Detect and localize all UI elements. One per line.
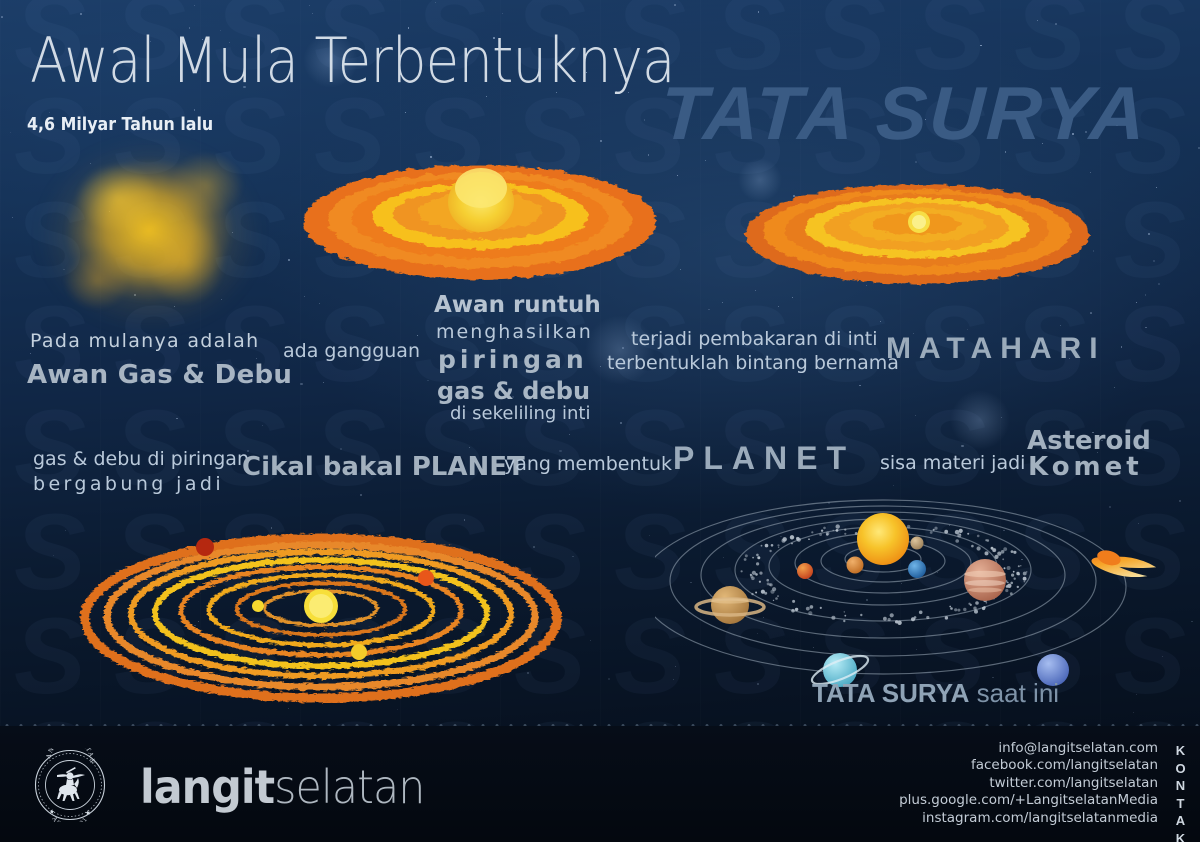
asteroid	[761, 545, 763, 547]
asteroid	[844, 615, 846, 617]
asteroid	[955, 539, 959, 543]
asteroid	[1023, 577, 1027, 581]
asteroid	[819, 533, 822, 536]
kontak-vertical-label: KONTAK	[1170, 742, 1192, 842]
star	[674, 4, 676, 6]
asteroid	[836, 524, 840, 528]
asteroid	[1011, 550, 1014, 553]
star	[708, 309, 710, 311]
asteroid	[770, 590, 774, 594]
asteroid	[982, 607, 985, 610]
star	[859, 385, 860, 386]
asteroid	[778, 547, 779, 548]
star	[80, 13, 82, 15]
star	[961, 445, 963, 447]
kontak-letter: K	[1170, 830, 1192, 842]
asteroid	[771, 544, 774, 547]
asteroid	[761, 590, 765, 594]
asteroid	[808, 538, 810, 540]
nebula-glow	[585, 315, 655, 385]
asteroid	[1005, 589, 1008, 592]
asteroid	[1016, 572, 1019, 575]
kontak-letter: N	[1170, 777, 1192, 795]
asteroid	[1024, 581, 1026, 583]
watermark-letter: S	[1100, 190, 1200, 294]
asteroid	[741, 570, 743, 572]
asteroid	[957, 533, 961, 537]
asteroid	[1018, 565, 1020, 567]
star	[427, 380, 429, 382]
star	[915, 415, 916, 416]
contact-list: info@langitselatan.com facebook.com/lang…	[899, 740, 1158, 827]
star	[1037, 20, 1038, 21]
asteroid	[914, 616, 917, 619]
asteroid	[744, 558, 747, 561]
star	[323, 382, 324, 383]
star	[680, 269, 681, 270]
asteroid	[790, 535, 794, 539]
label-matahari: MATAHARI	[886, 332, 1106, 366]
asteroid	[843, 620, 845, 622]
asteroid	[974, 610, 978, 614]
watermark-letter: S	[300, 398, 400, 502]
asteroid	[977, 546, 981, 550]
asteroid	[752, 557, 754, 559]
asteroid	[954, 608, 957, 611]
asteroid	[930, 531, 933, 534]
star	[10, 132, 11, 133]
asteroid	[926, 616, 929, 619]
star	[300, 383, 302, 385]
asteroid	[1007, 582, 1009, 584]
asteroid	[1013, 571, 1015, 573]
star	[778, 306, 780, 308]
asteroid	[890, 613, 894, 617]
asteroid	[959, 529, 963, 533]
asteroid	[1004, 567, 1006, 569]
asteroid	[823, 527, 826, 530]
star	[644, 119, 645, 120]
star	[1121, 346, 1122, 347]
asteroid	[1020, 565, 1021, 566]
asteroid	[755, 573, 758, 576]
watermark-letter: S	[1100, 294, 1200, 398]
asteroid	[1007, 566, 1011, 570]
brand-wordmark: langitselatan	[140, 760, 424, 814]
star	[360, 494, 362, 496]
asteroid	[773, 600, 774, 601]
star	[1060, 325, 1061, 326]
asteroid	[949, 606, 951, 608]
kontak-letter: A	[1170, 812, 1192, 830]
star	[590, 640, 591, 641]
caption-step4-line1: terjadi pembakaran di inti	[631, 328, 878, 350]
asteroid	[971, 545, 974, 548]
star	[1133, 712, 1134, 713]
star-ignition-disk-illustration	[742, 172, 1092, 294]
star	[600, 366, 601, 367]
star	[620, 422, 622, 424]
asteroid	[777, 595, 779, 597]
svg-text:LANGITSELATAN: LANGITSELATAN	[33, 748, 95, 764]
caption-step4-line2: terbentuklah bintang bernama	[607, 352, 899, 374]
star	[288, 708, 289, 709]
contact-facebook[interactable]: facebook.com/langitselatan	[899, 757, 1158, 774]
asteroid	[1014, 578, 1016, 580]
asteroid	[808, 611, 812, 615]
asteroid	[888, 618, 891, 621]
asteroid	[844, 533, 846, 535]
asteroid	[1003, 547, 1007, 551]
caption-step5-line1: gas & debu di piringan	[33, 448, 249, 470]
star	[915, 161, 917, 163]
asteroid	[766, 579, 769, 582]
star	[1093, 250, 1094, 251]
star	[1145, 327, 1147, 329]
caption-step3-line5: di sekeliling inti	[450, 403, 590, 424]
star	[312, 13, 314, 15]
asteroid	[844, 529, 846, 531]
asteroid	[791, 609, 795, 613]
asteroid	[756, 554, 759, 557]
asteroid	[919, 611, 923, 615]
asteroid	[883, 617, 887, 621]
planetesimal-disk-illustration	[78, 518, 568, 704]
asteroid	[770, 583, 773, 586]
caption-step3-line3: piringan	[438, 345, 588, 374]
star	[1090, 312, 1092, 314]
asteroid	[985, 551, 989, 555]
asteroid	[967, 533, 969, 535]
caption-step1-line2: Awan Gas & Debu	[27, 360, 292, 390]
label-tata-surya-saat-ini: TATA SURYA saat ini	[812, 678, 1059, 709]
asteroid	[997, 552, 1001, 556]
caption-step3-line4: gas & debu	[437, 377, 590, 405]
asteroid	[973, 607, 976, 610]
asteroid	[795, 608, 798, 611]
star	[608, 678, 610, 680]
caption-step3-line2: menghasilkan	[436, 321, 593, 343]
asteroid	[944, 530, 948, 534]
star	[1055, 23, 1056, 24]
asteroid	[950, 607, 953, 610]
star	[417, 335, 418, 336]
asteroid	[759, 581, 761, 583]
star	[340, 448, 341, 449]
star	[53, 555, 54, 556]
star	[30, 353, 31, 354]
asteroid	[831, 616, 835, 620]
star	[1153, 260, 1155, 262]
asteroid	[796, 537, 799, 540]
asteroid	[945, 616, 948, 619]
caption-yang-membentuk: yang membentuk	[504, 453, 672, 475]
asteroid	[907, 525, 910, 528]
asteroid	[755, 592, 757, 594]
asteroid	[977, 535, 980, 538]
asteroid	[769, 550, 771, 552]
asteroid	[957, 609, 960, 612]
asteroid	[933, 529, 935, 531]
asteroid	[987, 539, 990, 542]
asteroid	[1002, 558, 1004, 560]
contact-instagram[interactable]: instagram.com/langitselatanmedia	[899, 810, 1158, 827]
asteroid	[777, 544, 779, 546]
asteroid	[1010, 582, 1013, 585]
asteroid	[791, 543, 793, 545]
kontak-letter: O	[1170, 760, 1192, 778]
star	[262, 425, 263, 426]
star	[1156, 187, 1157, 188]
star	[649, 535, 650, 536]
asteroid	[820, 607, 822, 609]
star	[1, 16, 3, 18]
asteroid	[934, 527, 937, 530]
label-saat-ini: saat ini	[969, 678, 1059, 708]
caption-step1-line1: Pada mulanya adalah	[30, 330, 259, 352]
kontak-letter: T	[1170, 795, 1192, 813]
asteroid	[1001, 550, 1005, 554]
asteroid	[833, 530, 834, 531]
star	[435, 2, 436, 3]
star	[469, 447, 470, 448]
asteroid	[860, 614, 862, 616]
star	[980, 45, 982, 47]
star	[65, 530, 67, 532]
asteroid	[756, 562, 759, 565]
asteroid	[821, 530, 823, 532]
label-tata-surya-bold: TATA SURYA	[812, 678, 969, 708]
footer-divider	[0, 724, 1200, 726]
star	[758, 11, 759, 12]
star	[1001, 417, 1002, 418]
caption-step2: ada gangguan	[283, 340, 420, 362]
contact-twitter[interactable]: twitter.com/langitselatan	[899, 775, 1158, 792]
star	[1148, 233, 1150, 235]
watermark-letter: S	[900, 398, 1000, 502]
star	[893, 485, 895, 487]
asteroid	[844, 611, 845, 612]
asteroid	[759, 572, 762, 575]
star	[967, 329, 968, 330]
asteroid	[806, 607, 810, 611]
caption-step3-line1: Awan runtuh	[434, 292, 601, 318]
brand-selatan: selatan	[274, 760, 424, 814]
collapsing-disk-illustration	[300, 140, 660, 300]
star	[572, 556, 574, 558]
asteroid	[765, 544, 769, 548]
caption-sisa-materi-jadi: sisa materi jadi	[880, 452, 1025, 474]
asteroid	[757, 556, 760, 559]
asteroid	[993, 549, 995, 551]
star	[1158, 283, 1160, 285]
asteroid	[1013, 551, 1016, 554]
star	[677, 175, 678, 176]
asteroid	[1007, 584, 1011, 588]
infographic-poster: SSSSSSSSSSSSSSSSSSSSSSSSSSSSSSSSSSSSSSSS…	[0, 0, 1200, 842]
star	[792, 297, 794, 299]
label-planet: PLANET	[673, 440, 855, 477]
asteroid	[1011, 574, 1014, 577]
asteroid	[811, 531, 813, 533]
kontak-letter: K	[1170, 742, 1192, 760]
star	[559, 450, 561, 452]
star	[405, 112, 406, 113]
star	[1114, 387, 1115, 388]
asteroid	[914, 618, 916, 620]
asteroid	[810, 605, 814, 609]
gas-dust-cloud-illustration	[18, 120, 280, 350]
asteroid	[792, 600, 795, 603]
star	[397, 709, 398, 710]
asteroid	[775, 597, 778, 600]
asteroid	[836, 529, 839, 532]
asteroid	[1010, 592, 1013, 595]
page-title: Awal Mula Terbentuknya	[30, 24, 675, 97]
star	[309, 5, 310, 6]
star	[1145, 294, 1146, 295]
asteroid	[1023, 572, 1027, 576]
star	[319, 303, 320, 304]
asteroid	[994, 555, 998, 559]
star	[569, 434, 570, 435]
label-komet: Komet	[1028, 452, 1143, 482]
asteroid	[745, 554, 748, 557]
asteroid	[855, 532, 858, 535]
asteroid	[782, 539, 786, 543]
star	[722, 302, 723, 303]
asteroid	[986, 602, 988, 604]
asteroid	[975, 601, 979, 605]
asteroid	[968, 603, 970, 605]
caption-step5-line2: bergabung jadi	[33, 473, 224, 495]
asteroid	[895, 620, 898, 623]
asteroid	[751, 577, 755, 581]
nebula-glow	[950, 390, 1010, 450]
contact-email[interactable]: info@langitselatan.com	[899, 740, 1158, 757]
page-subtitle: 4,6 Milyar Tahun lalu	[27, 114, 213, 135]
asteroid	[1017, 586, 1019, 588]
caption-cikal-bakal-planet: Cikal bakal PLANET	[242, 452, 525, 482]
star	[502, 13, 503, 14]
asteroid	[963, 608, 966, 611]
langitselatan-logo-icon: LANGITSELATAN ★ ASTRO 101 ★	[33, 748, 107, 822]
star	[705, 160, 706, 161]
asteroid	[826, 532, 830, 536]
star	[622, 347, 624, 349]
star	[194, 5, 195, 6]
asteroid	[751, 593, 753, 595]
star	[880, 321, 881, 322]
brand-langit: langit	[140, 760, 274, 814]
star	[1136, 302, 1137, 303]
star	[176, 418, 177, 419]
contact-googleplus[interactable]: plus.google.com/+LangitselatanMedia	[899, 792, 1158, 809]
big-title-tata-surya: TATA SURYA	[658, 70, 1149, 156]
